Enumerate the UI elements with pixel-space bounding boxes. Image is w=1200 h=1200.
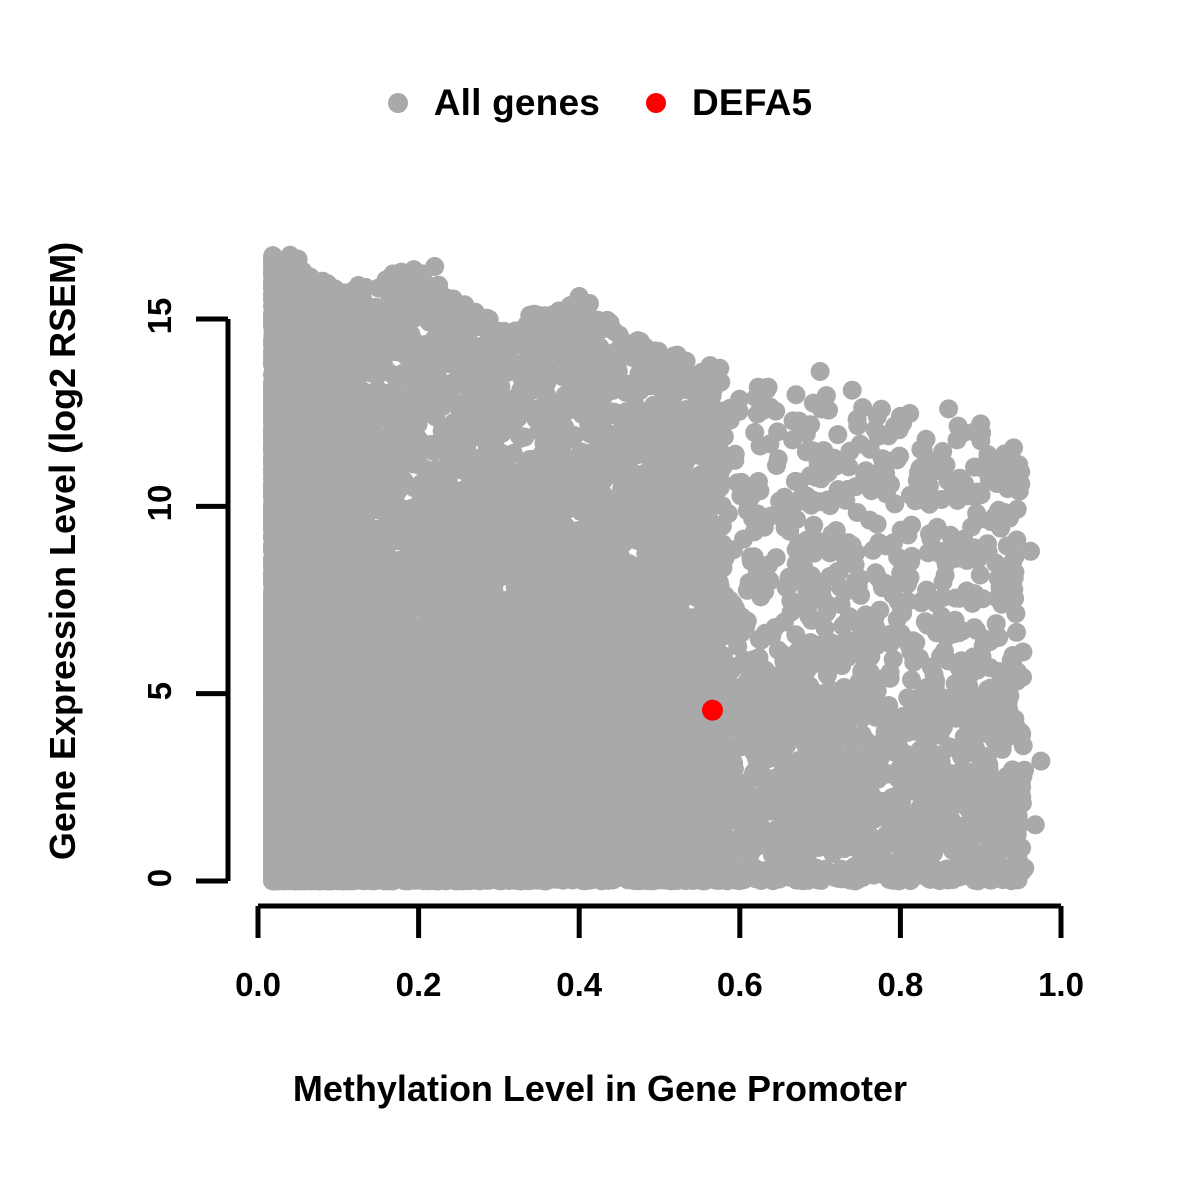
y-tick-label-2: 10: [141, 473, 179, 533]
x-tick-label-5: 1.0: [1038, 966, 1084, 1004]
x-tick-label-4: 0.8: [877, 966, 923, 1004]
y-tick-label-1: 5: [141, 661, 179, 721]
x-tick-label-1: 0.2: [396, 966, 442, 1004]
scatter-point-defa5: [702, 700, 723, 721]
x-tick-label-2: 0.4: [556, 966, 602, 1004]
defa5-point: [702, 700, 723, 721]
plot-area: [0, 0, 1200, 1200]
scatter-canvas: [0, 0, 1200, 1200]
x-tick-label-3: 0.6: [717, 966, 763, 1004]
y-tick-label-3: 15: [141, 286, 179, 346]
y-axis-title: Gene Expression Level (log2 RSEM): [42, 151, 84, 951]
x-tick-label-0: 0.0: [235, 966, 281, 1004]
x-axis-title: Methylation Level in Gene Promoter: [0, 1068, 1200, 1110]
chart-root: All genes DEFA5 0.00.20.40.60.81.0 05101…: [0, 0, 1200, 1200]
y-tick-label-0: 0: [141, 848, 179, 908]
scatter-points-all-genes: [263, 246, 1050, 891]
